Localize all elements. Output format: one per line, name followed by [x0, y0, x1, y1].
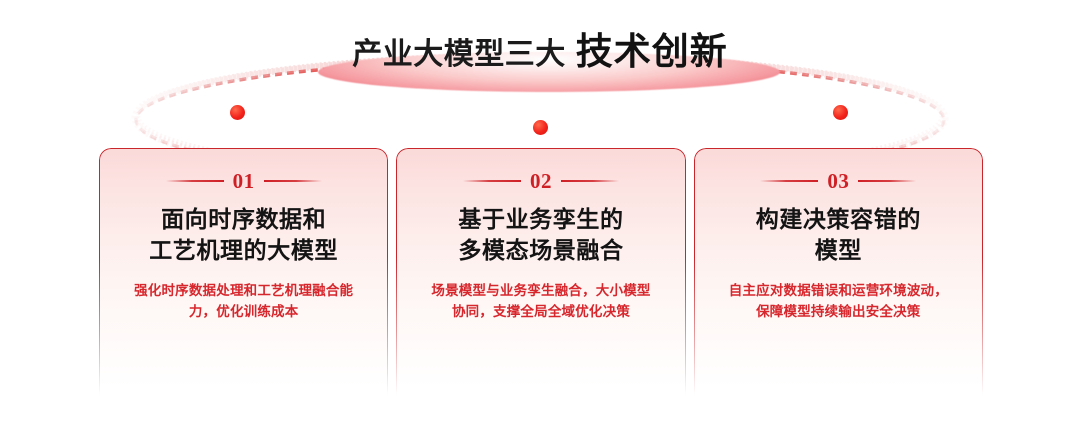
card-description: 自主应对数据错误和运营环境波动， 保障模型持续输出安全决策 [708, 280, 969, 324]
orbit-dot-right-icon [833, 105, 848, 120]
page-title: 产业大模型三大技术创新 [0, 33, 1080, 70]
card-title-line: 模型 [708, 235, 969, 266]
card-title-line: 面向时序数据和 [113, 204, 374, 235]
feature-card-02[interactable]: 02 基于业务孪生的 多模态场景融合 场景模型与业务孪生融合，大小模型 协同，支… [396, 148, 685, 408]
card-number: 01 [233, 171, 255, 192]
rule-right-icon [561, 180, 619, 182]
rule-left-icon [166, 180, 224, 182]
card-title: 基于业务孪生的 多模态场景融合 [410, 204, 671, 266]
card-title: 构建决策容错的 模型 [708, 204, 969, 266]
page-title-emphasis: 技术创新 [576, 31, 728, 72]
rule-left-icon [760, 180, 818, 182]
card-title-line: 基于业务孪生的 [410, 204, 671, 235]
rule-right-icon [264, 180, 322, 182]
card-description: 场景模型与业务孪生融合，大小模型 协同，支撑全局全域优化决策 [410, 280, 671, 324]
infographic-canvas: 产业大模型三大技术创新 01 面向时序数据和 工艺机理的大模型 强化时序数据处理… [0, 0, 1080, 432]
card-description-line: 场景模型与业务孪生融合，大小模型 [414, 280, 667, 302]
orbit-dot-left-icon [230, 105, 245, 120]
card-title: 面向时序数据和 工艺机理的大模型 [113, 204, 374, 266]
rule-right-icon [858, 180, 916, 182]
card-number: 03 [827, 171, 849, 192]
card-number: 02 [530, 171, 552, 192]
card-description: 强化时序数据处理和工艺机理融合能 力，优化训练成本 [113, 280, 374, 324]
card-title-line: 工艺机理的大模型 [113, 235, 374, 266]
card-description-line: 强化时序数据处理和工艺机理融合能 [117, 280, 370, 302]
cards-row: 01 面向时序数据和 工艺机理的大模型 强化时序数据处理和工艺机理融合能 力，优… [99, 148, 983, 408]
feature-card-03[interactable]: 03 构建决策容错的 模型 自主应对数据错误和运营环境波动， 保障模型持续输出安… [694, 148, 983, 408]
page-title-prefix: 产业大模型三大 [352, 38, 566, 71]
card-number-row: 01 [113, 170, 374, 192]
card-description-line: 力，优化训练成本 [117, 301, 370, 323]
card-description-line: 自主应对数据错误和运营环境波动， [712, 280, 965, 302]
orbit-dot-center-icon [533, 120, 548, 135]
feature-card-01[interactable]: 01 面向时序数据和 工艺机理的大模型 强化时序数据处理和工艺机理融合能 力，优… [99, 148, 388, 408]
card-number-row: 02 [410, 170, 671, 192]
rule-left-icon [463, 180, 521, 182]
card-description-line: 协同，支撑全局全域优化决策 [414, 301, 667, 323]
card-title-line: 多模态场景融合 [410, 235, 671, 266]
card-title-line: 构建决策容错的 [708, 204, 969, 235]
card-number-row: 03 [708, 170, 969, 192]
card-description-line: 保障模型持续输出安全决策 [712, 301, 965, 323]
